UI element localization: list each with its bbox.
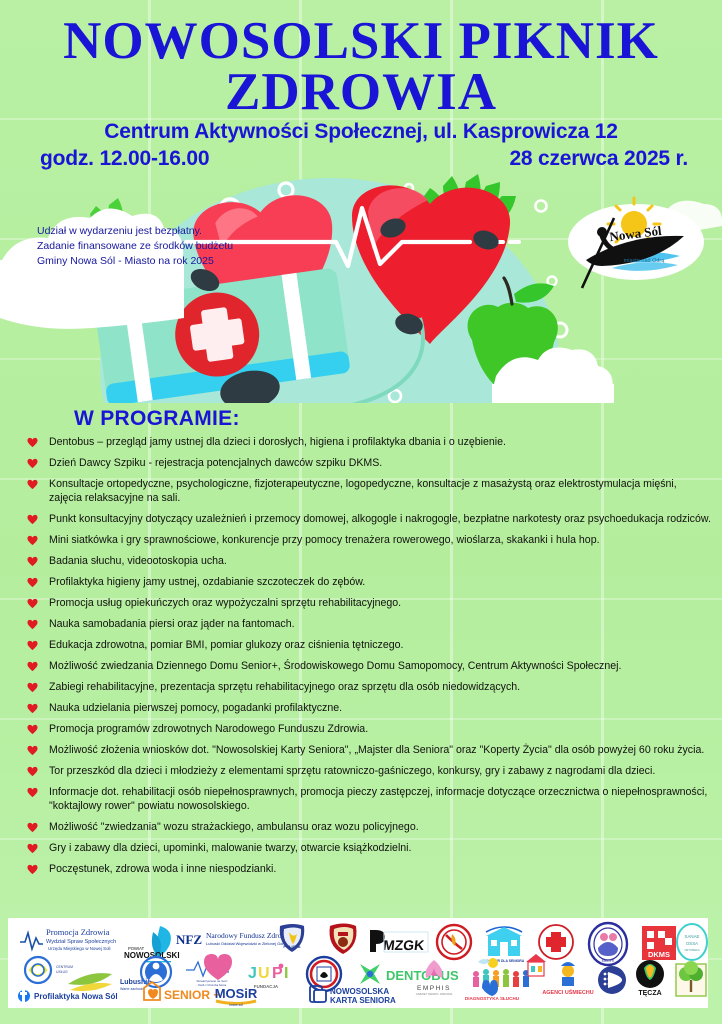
heart-bullet-icon [27,843,38,854]
svg-text:DENTOBUS: DENTOBUS [386,968,459,983]
heart-bullet-icon [27,766,38,777]
svg-text:ORTOPEDIA: ORTOPEDIA [684,948,699,952]
program-list: Dentobus – przegląd jamy ustnej dla dzie… [22,436,712,884]
program-item: Konsultacje ortopedyczne, psychologiczne… [22,478,712,505]
logo-dzienny-dom [141,957,171,987]
nowa-sol-city-logo: Nowa Sól miasto nad Odrą [560,196,710,292]
logo-straz-pozarna [330,924,357,955]
program-item-text: Możliwość "zwiedzania" wozu strażackiego… [49,821,419,833]
program-item-text: Dentobus – przegląd jamy ustnej dla dzie… [49,436,506,448]
logo-poczta-polska [598,966,626,994]
program-item-text: Konsultacje ortopedyczne, psychologiczne… [49,478,677,504]
logo-dkms: DKMS [642,926,676,960]
program-item-text: Mini siatkówka i gry sprawnościowe, konk… [49,534,600,546]
heart-bullet-icon [27,556,38,567]
svg-text:AGENCI UŚMIECHU: AGENCI UŚMIECHU [542,989,593,996]
logo-pck [539,925,573,959]
program-item: Informacje dot. rehabilitacji osób niepe… [22,786,712,813]
logo-stop-uzaleznieniom [437,925,471,959]
program-item-text: Badania słuchu, videootoskopia ucha. [49,555,227,567]
program-item: Promocja usług opiekuńczych oraz wypożyc… [22,597,712,611]
program-item: Dzień Dawcy Szpiku - rejestracja potencj… [22,457,712,471]
heart-bullet-icon [27,745,38,756]
heart-bullet-icon [27,514,38,525]
logo-mzgk: MZGK [370,930,428,953]
heart-bullet-icon [27,682,38,693]
event-hours: godz. 12.00-16.00 [40,147,209,171]
program-item: Nauka samobadania piersi oraz jąder na f… [22,618,712,632]
svg-text:DKMS: DKMS [648,950,670,959]
svg-text:Urzędu Miejskiego w Nowej Soli: Urzędu Miejskiego w Nowej Soli [48,946,110,951]
svg-text:I: I [284,965,288,982]
program-item-text: Możliwość złożenia wniosków dot. "Nowoso… [49,744,704,756]
svg-text:POLICJA: POLICJA [283,944,300,949]
svg-text:Warte zachodu: Warte zachodu [120,987,144,991]
event-date: 28 czerwca 2025 r. [509,147,688,171]
svg-text:CENTRUM: CENTRUM [56,965,73,969]
program-item: Poczęstunek, zdrowa woda i inne niespodz… [22,863,712,877]
heart-bullet-icon [27,535,38,546]
svg-text:SANAE: SANAE [685,934,700,939]
logo-tecza: TĘCZA [636,960,664,997]
svg-text:TĘCZA: TĘCZA [638,990,661,997]
program-item: Zabiegi rehabilitacyjne, prezentacja spr… [22,681,712,695]
funding-note: Udział w wydarzeniu jest bezpłatny. Zada… [37,224,233,269]
program-item-text: Promocja programów zdrowotnych Narodoweg… [49,723,368,735]
logo-drzewo [676,961,706,996]
svg-text:SENIOR +: SENIOR + [164,988,220,1002]
logo-policja: POLICJA [280,924,305,952]
program-item: Promocja programów zdrowotnych Narodoweg… [22,723,712,737]
svg-text:MOSiR: MOSiR [215,986,258,1001]
svg-text:MZGK: MZGK [382,937,425,953]
svg-text:Wydział Spraw Społecznych: Wydział Spraw Społecznych [46,939,116,945]
program-item: Możliwość "zwiedzania" wozu strażackiego… [22,821,712,835]
heart-bullet-icon [27,458,38,469]
program-item-text: Tor przeszkód dla dzieci i młodzieży z e… [49,765,655,777]
svg-text:GABINET TERAPII I ZDROWIA: GABINET TERAPII I ZDROWIA [416,992,453,996]
svg-text:nowa sól: nowa sól [229,1003,243,1007]
program-item: Profilaktyka higieny jamy ustnej, ozdabi… [22,576,712,590]
program-item: Dentobus – przegląd jamy ustnej dla dzie… [22,436,712,450]
program-item: Edukacja zdrowotna, pomiar BMI, pomiar g… [22,639,712,653]
svg-text:KARTA SENIORA: KARTA SENIORA [330,996,396,1005]
title-line-2: ZDROWIA [0,67,722,118]
svg-text:DIAGNOSTYKA SŁUCHU: DIAGNOSTYKA SŁUCHU [465,996,520,1001]
program-item: Punkt konsultacyjny dotyczący uzależnień… [22,513,712,527]
program-item: Możliwość złożenia wniosków dot. "Nowoso… [22,744,712,758]
svg-text:Promocja Zdrowia: Promocja Zdrowia [46,927,110,937]
heart-bullet-icon [27,479,38,490]
logo-nfz: NFZ Narodowy Fundusz Zdrowia Lubuski Odd… [176,931,293,947]
logo-profilaktyka-nowa-sol: Profilaktyka Nowa Sól [18,987,118,1004]
program-item-text: Gry i zabawy dla dzieci, upominki, malow… [49,842,411,854]
heart-bullet-icon [27,437,38,448]
poster-canvas: Nowa Sól miasto nad Odrą NOWOSOLSKI PIKN… [0,0,722,1024]
heart-bullet-icon [27,822,38,833]
heart-bullet-icon [27,724,38,735]
title-line-1: NOWOSOLSKI PIKNIK [0,16,722,67]
event-venue: Centrum Aktywności Społecznej, ul. Kaspr… [0,120,722,144]
logo-majster-dla-seniora: MAJSTER DLA SENIORA [484,927,525,963]
program-item-text: Poczęstunek, zdrowa woda i inne niespodz… [49,863,276,875]
heart-bullet-icon [27,640,38,651]
svg-text:USŁUG: USŁUG [56,970,68,974]
heart-bullet-icon [27,619,38,630]
program-item-text: Dzień Dawcy Szpiku - rejestracja potencj… [49,457,382,469]
logo-medyk: MEDYK [589,923,627,965]
program-item-text: Nauka udzielania pierwszej pomocy, pogad… [49,702,342,714]
program-item-text: Edukacja zdrowotna, pomiar BMI, pomiar g… [49,639,403,651]
logo-promocja-zdrowia: Promocja Zdrowia Wydział Spraw Społeczny… [20,927,116,951]
program-heading: W PROGRAMIE: [74,407,240,431]
program-item-text: Informacje dot. rehabilitacji osób niepe… [49,786,707,812]
program-item: Badania słuchu, videootoskopia ucha. [22,555,712,569]
heart-bullet-icon [27,864,38,875]
logo-dentobus: DENTOBUS [360,964,459,984]
city-logo-tagline: miasto nad Odrą [624,258,666,264]
svg-text:Lubuski Oddział Wojewódzki w Z: Lubuski Oddział Wojewódzki w Zielonej Gó… [206,941,289,946]
program-item: Mini siatkówka i gry sprawnościowe, konk… [22,534,712,548]
logo-agenci-usmiechu: AGENCI UŚMIECHU [542,962,593,996]
svg-text:NOWOSOLSKA: NOWOSOLSKA [330,987,389,996]
program-item: Gry i zabawy dla dzieci, upominki, malow… [22,842,712,856]
logo-nowosolska-karta-seniora: NOWOSOLSKA KARTA SENIORA [310,986,396,1005]
svg-text:NFZ: NFZ [176,932,202,947]
heart-bullet-icon [27,577,38,588]
heart-bullet-icon [27,703,38,714]
heart-bullet-icon [27,598,38,609]
svg-text:J: J [248,965,257,982]
program-item: Tor przeszkód dla dzieci i młodzieży z e… [22,765,712,779]
logo-lubuskie: Lubushie Warte zachodu [68,973,151,991]
logo-sanae-ossa: SANAE OSSA ORTOPEDIA [677,924,707,960]
logo-domek-kolorowy [526,954,546,976]
program-item-text: Nauka samobadania piersi oraz jąder na f… [49,618,295,630]
svg-text:U: U [258,965,270,982]
svg-text:OSSA: OSSA [686,941,698,946]
program-item-text: Punkt konsultacyjny dotyczący uzależnień… [49,513,711,525]
program-item-text: Promocja usług opiekuńczych oraz wypożyc… [49,597,401,609]
svg-text:EMPHIS: EMPHIS [417,985,451,992]
program-item-text: Profilaktyka higieny jamy ustnej, ozdabi… [49,576,365,588]
event-details: Centrum Aktywności Społecznej, ul. Kaspr… [0,120,722,171]
heart-bullet-icon [27,661,38,672]
svg-text:FUNDACJA: FUNDACJA [254,984,279,989]
sponsor-logo-band: Promocja Zdrowia Wydział Spraw Społeczny… [8,918,708,1008]
program-item-text: Możliwość zwiedzania Dziennego Domu Seni… [49,660,621,672]
program-item-text: Zabiegi rehabilitacyjne, prezentacja spr… [49,681,520,693]
logo-mosir: MOSiR nowa sól [215,986,258,1007]
svg-text:Profilaktyka Nowa Sól: Profilaktyka Nowa Sól [34,992,118,1001]
logo-centrum-uslug: CENTRUM USŁUG [25,957,73,983]
logo-kardio: Stowarzyszenie na rzecz Osób z Chorobą S… [186,954,232,987]
program-item: Nauka udzielania pierwszej pomocy, pogad… [22,702,712,716]
heart-bullet-icon [27,787,38,798]
poster-title: NOWOSOLSKI PIKNIK ZDROWIA [0,16,722,118]
program-item: Możliwość zwiedzania Dziennego Domu Seni… [22,660,712,674]
svg-text:MEDYK: MEDYK [602,959,615,963]
